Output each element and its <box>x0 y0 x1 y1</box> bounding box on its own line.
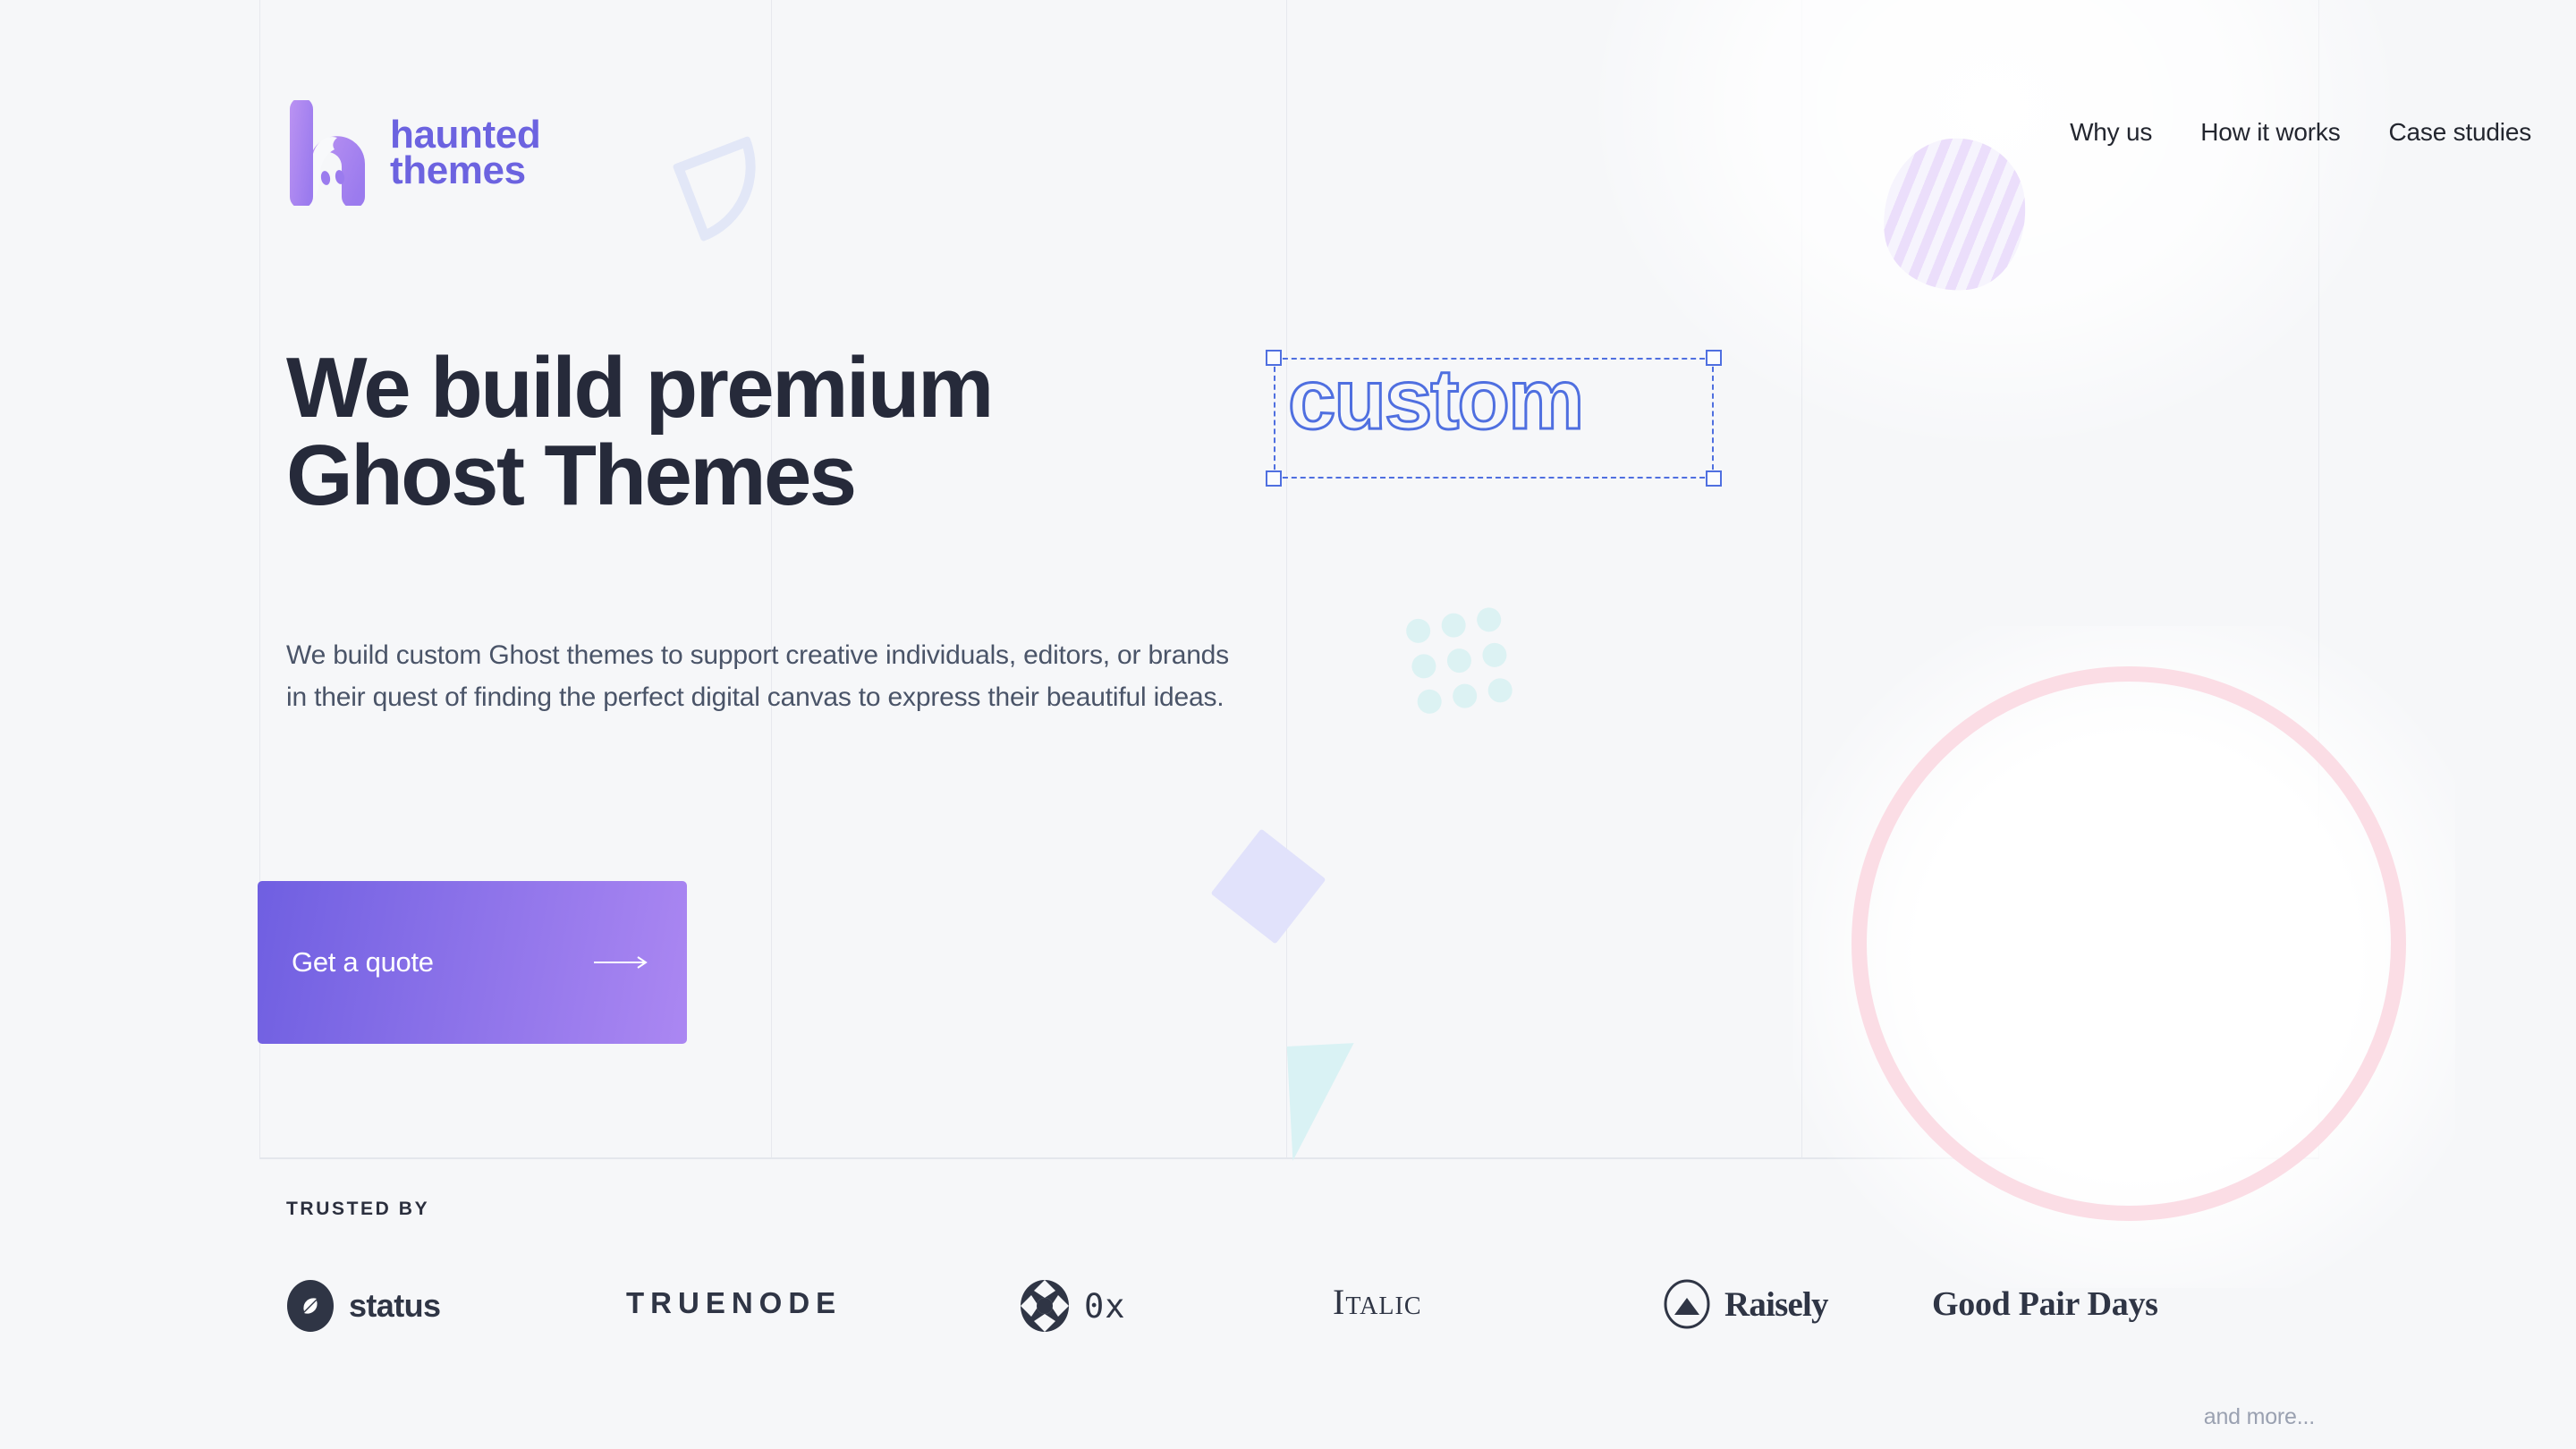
main-nav: Why us How it works Case studies Get a q… <box>2070 118 2576 147</box>
client-logo-good-pair-days-label: Good Pair Days <box>1932 1284 2158 1324</box>
brand-name-line1: haunted <box>390 117 540 153</box>
grid-divider-1 <box>771 0 772 1157</box>
hero-get-a-quote-button[interactable]: Get a quote <box>258 881 687 1044</box>
selection-handle-bottom-right[interactable] <box>1706 470 1722 487</box>
headline-line-1: We build premium <box>286 340 992 436</box>
grid-divider-2 <box>1286 0 1287 1157</box>
nav-link-case-studies[interactable]: Case studies <box>2389 118 2531 147</box>
client-logo-raisely: Raisely <box>1664 1279 1828 1329</box>
trusted-by-label: TRUSTED BY <box>286 1199 429 1220</box>
client-logo-status: status <box>286 1279 440 1333</box>
client-logo-italic-label: Italic <box>1333 1281 1422 1323</box>
and-more-text: and more... <box>2204 1404 2315 1430</box>
status-oval-icon <box>286 1279 335 1333</box>
hero-paragraph: We build custom Ghost themes to support … <box>286 635 1234 719</box>
zerox-circle-icon <box>1020 1279 1070 1333</box>
client-logo-row: status TRUENODE 0x Italic <box>286 1261 2299 1360</box>
client-logo-truenode: TRUENODE <box>626 1286 842 1320</box>
brand-name-line2: themes <box>390 153 540 189</box>
ghost-h-logo-icon <box>286 100 369 206</box>
selection-handle-top-left[interactable] <box>1266 350 1282 366</box>
client-logo-italic: Italic <box>1333 1281 1422 1323</box>
grid-divider-3 <box>1801 0 1802 1157</box>
client-logo-good-pair-days: Good Pair Days <box>1932 1284 2158 1324</box>
selection-handle-top-right[interactable] <box>1706 350 1722 366</box>
client-logo-truenode-label: TRUENODE <box>626 1286 842 1320</box>
client-logo-status-label: status <box>349 1287 440 1325</box>
long-arrow-right-icon <box>594 954 649 970</box>
raisely-mountain-icon <box>1664 1279 1710 1329</box>
selection-handle-bottom-left[interactable] <box>1266 470 1282 487</box>
brand-wordmark: haunted themes <box>390 117 540 190</box>
selection-bounding-box <box>1274 358 1714 479</box>
custom-word-selection[interactable]: custom <box>1274 358 1714 479</box>
landing-page: haunted themes Why us How it works Case … <box>0 0 2576 1449</box>
client-logo-0x: 0x <box>1020 1279 1126 1333</box>
nav-link-why-us[interactable]: Why us <box>2070 118 2152 147</box>
nav-link-how-it-works[interactable]: How it works <box>2200 118 2340 147</box>
hero-cta-label: Get a quote <box>292 946 434 979</box>
client-logo-0x-label: 0x <box>1084 1287 1126 1326</box>
client-logo-raisely-label: Raisely <box>1724 1284 1828 1325</box>
brand-logo[interactable]: haunted themes <box>286 100 540 206</box>
